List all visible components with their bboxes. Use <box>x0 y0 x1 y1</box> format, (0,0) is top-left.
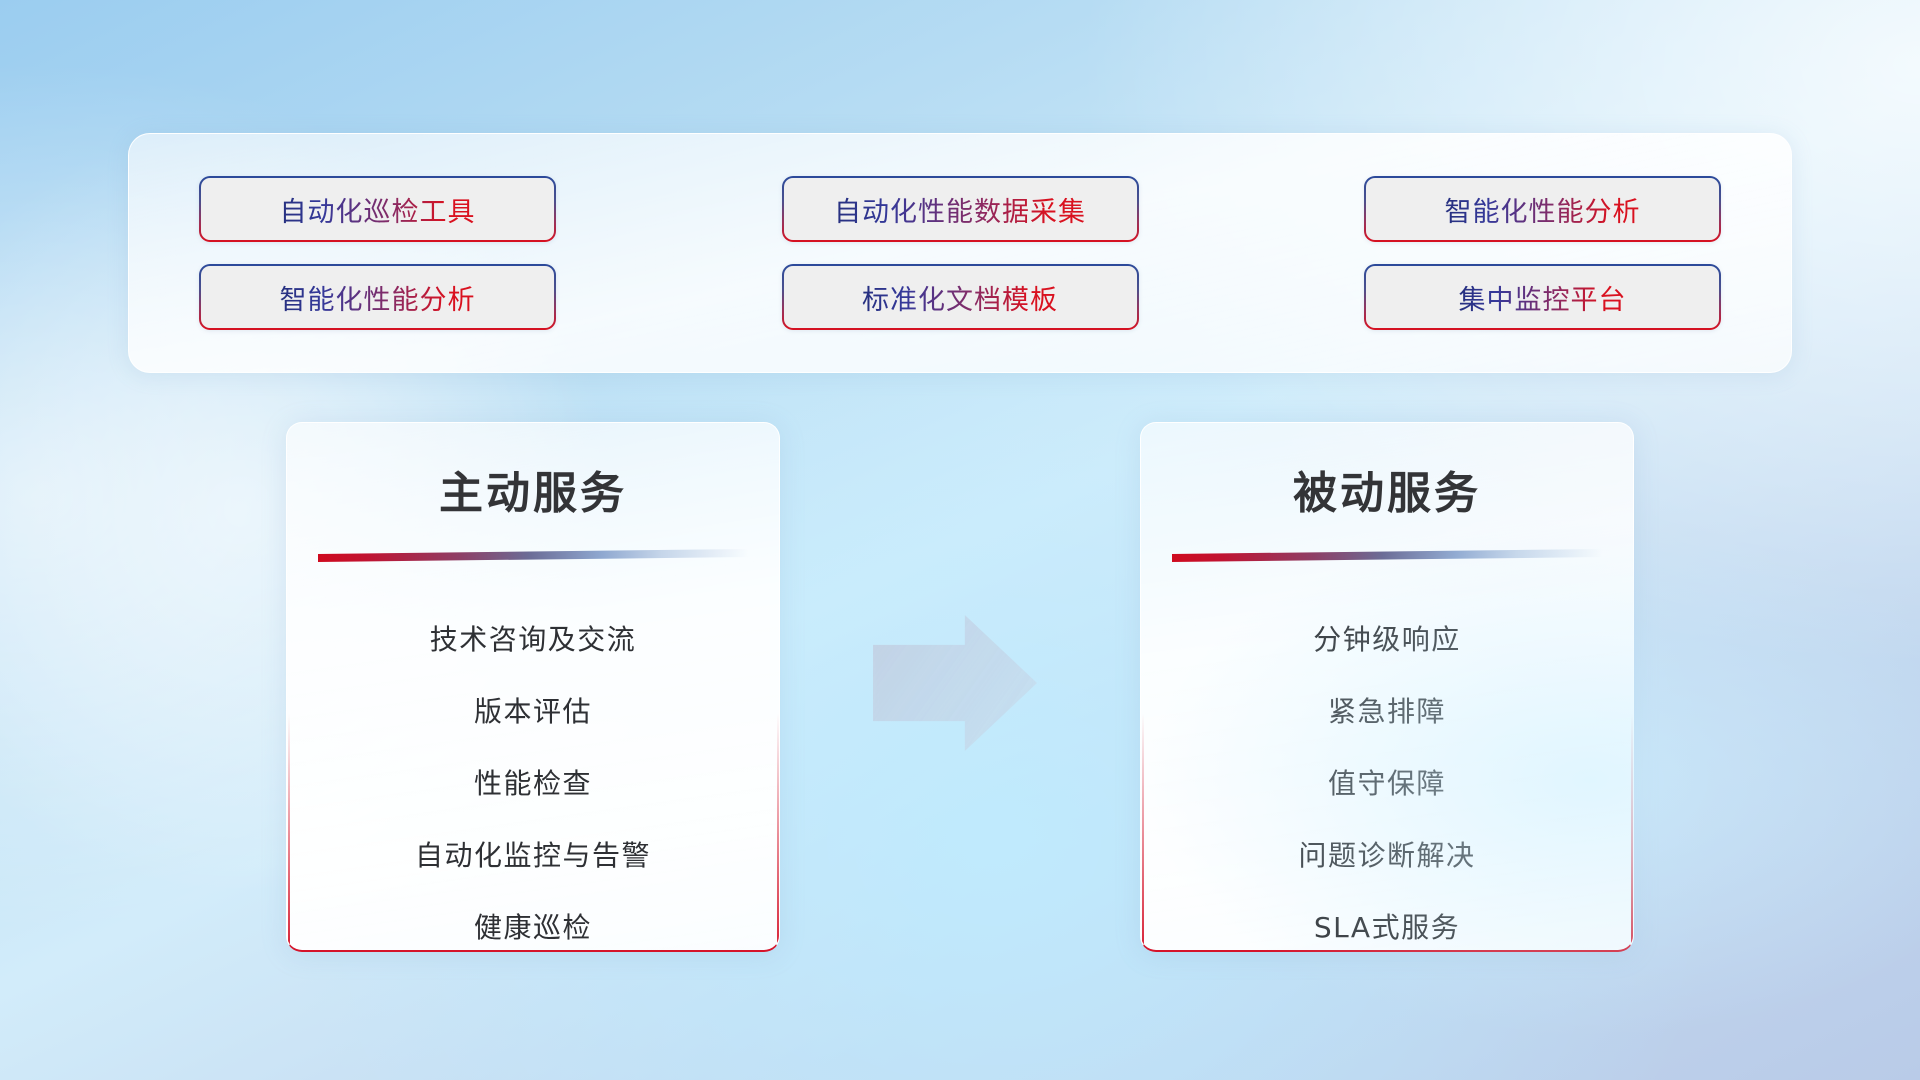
capability-pill-label: 自动化巡检工具 <box>280 190 476 229</box>
pill-inner: 智能化性能分析 <box>201 266 554 328</box>
capability-pill-label: 智能化性能分析 <box>1445 190 1641 229</box>
service-card-title: 主动服务 <box>287 457 779 521</box>
service-card-proactive: 主动服务 技术咨询及交流 版本评估 性能检查 自动化监控与告警 健康巡检 <box>286 422 780 952</box>
capability-pill-intelligent-perf-analysis-2[interactable]: 智能化性能分析 <box>199 264 556 330</box>
pill-inner: 标准化文档模板 <box>784 266 1137 328</box>
capability-pill-auto-inspection-tool[interactable]: 自动化巡检工具 <box>199 176 556 242</box>
list-item: 值守保障 <box>1141 748 1633 820</box>
title-divider <box>318 549 748 562</box>
arrow-right-icon <box>873 615 1037 751</box>
pill-inner: 自动化巡检工具 <box>201 178 554 240</box>
pill-inner: 集中监控平台 <box>1366 266 1719 328</box>
list-item: SLA式服务 <box>1141 892 1633 952</box>
service-item-list: 分钟级响应 紧急排障 值守保障 问题诊断解决 SLA式服务 <box>1141 604 1633 952</box>
list-item: 紧急排障 <box>1141 676 1633 748</box>
capability-pill-label: 自动化性能数据采集 <box>834 190 1086 229</box>
list-item: 版本评估 <box>287 676 779 748</box>
service-item-list: 技术咨询及交流 版本评估 性能检查 自动化监控与告警 健康巡检 <box>287 604 779 952</box>
capability-pill-standard-doc-template[interactable]: 标准化文档模板 <box>782 264 1139 330</box>
capability-panel: 自动化巡检工具 自动化性能数据采集 智能化性能分析 智能化性能分析 <box>128 133 1792 373</box>
list-item: 性能检查 <box>287 748 779 820</box>
list-item: 分钟级响应 <box>1141 604 1633 676</box>
capability-pill-intelligent-perf-analysis[interactable]: 智能化性能分析 <box>1364 176 1721 242</box>
capability-row-2: 智能化性能分析 标准化文档模板 集中监控平台 <box>199 264 1721 330</box>
capability-pill-central-monitoring-platform[interactable]: 集中监控平台 <box>1364 264 1721 330</box>
service-card-title: 被动服务 <box>1141 457 1633 521</box>
capability-pill-label: 标准化文档模板 <box>862 278 1058 317</box>
service-card-reactive: 被动服务 分钟级响应 紧急排障 值守保障 问题诊断解决 SLA式服务 <box>1140 422 1634 952</box>
pill-inner: 智能化性能分析 <box>1366 178 1719 240</box>
capability-pill-auto-perf-data-collection[interactable]: 自动化性能数据采集 <box>782 176 1139 242</box>
pill-inner: 自动化性能数据采集 <box>784 178 1137 240</box>
list-item: 健康巡检 <box>287 892 779 952</box>
list-item: 技术咨询及交流 <box>287 604 779 676</box>
capability-row-1: 自动化巡检工具 自动化性能数据采集 智能化性能分析 <box>199 176 1721 242</box>
diagram-canvas: 自动化巡检工具 自动化性能数据采集 智能化性能分析 智能化性能分析 <box>0 0 1920 1080</box>
title-divider <box>1172 549 1602 562</box>
capability-pill-label: 智能化性能分析 <box>280 278 476 317</box>
list-item: 问题诊断解决 <box>1141 820 1633 892</box>
capability-pill-label: 集中监控平台 <box>1459 278 1627 317</box>
list-item: 自动化监控与告警 <box>287 820 779 892</box>
